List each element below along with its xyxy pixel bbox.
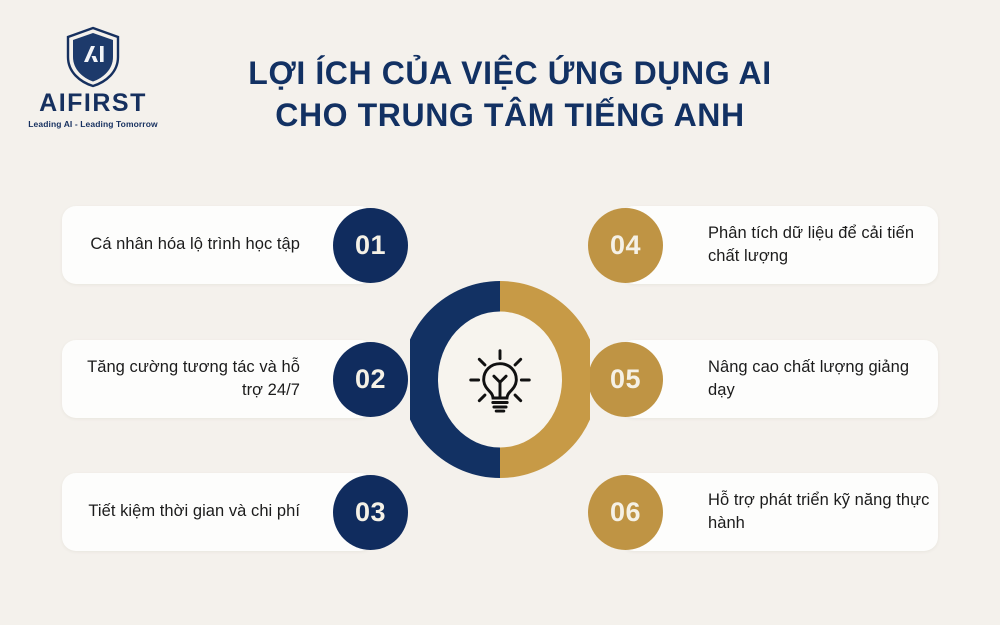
- benefit-text-04: Phân tích dữ liệu để cải tiến chất lượng: [708, 222, 938, 269]
- benefit-number-04: 04: [588, 208, 663, 283]
- benefit-text-02: Tăng cường tương tác và hỗ trợ 24/7: [62, 356, 300, 403]
- benefit-card-05[interactable]: 05 Nâng cao chất lượng giảng dạy: [620, 340, 938, 418]
- title-line-1: LỢI ÍCH CỦA VIỆC ỨNG DỤNG AI: [190, 52, 830, 94]
- lightbulb-icon: [464, 344, 536, 416]
- benefit-card-04[interactable]: 04 Phân tích dữ liệu để cải tiến chất lư…: [620, 206, 938, 284]
- benefit-text-03: Tiết kiệm thời gian và chi phí: [88, 500, 300, 523]
- benefit-text-01: Cá nhân hóa lộ trình học tập: [90, 233, 300, 256]
- shield-ai-icon: [65, 26, 121, 88]
- infographic-poster: AIFIRST Leading AI - Leading Tomorrow LỢ…: [0, 0, 1000, 625]
- logo-tagline: Leading AI - Leading Tomorrow: [18, 120, 168, 129]
- benefit-text-06: Hỗ trợ phát triển kỹ năng thực hành: [708, 489, 938, 536]
- benefit-card-02[interactable]: Tăng cường tương tác và hỗ trợ 24/7 02: [62, 340, 374, 418]
- benefit-number-06: 06: [588, 475, 663, 550]
- benefit-card-01[interactable]: Cá nhân hóa lộ trình học tập 01: [62, 206, 374, 284]
- benefit-number-03: 03: [333, 475, 408, 550]
- logo-wordmark: AIFIRST: [18, 90, 168, 116]
- page-title: LỢI ÍCH CỦA VIỆC ỨNG DỤNG AI CHO TRUNG T…: [190, 52, 830, 136]
- title-line-2: CHO TRUNG TÂM TIẾNG ANH: [190, 94, 830, 136]
- benefit-card-03[interactable]: Tiết kiệm thời gian và chi phí 03: [62, 473, 374, 551]
- benefit-number-01: 01: [333, 208, 408, 283]
- benefit-text-05: Nâng cao chất lượng giảng dạy: [708, 356, 938, 403]
- center-donut: [410, 272, 590, 487]
- benefit-number-05: 05: [588, 342, 663, 417]
- benefit-card-06[interactable]: 06 Hỗ trợ phát triển kỹ năng thực hành: [620, 473, 938, 551]
- benefit-number-02: 02: [333, 342, 408, 417]
- brand-logo: AIFIRST Leading AI - Leading Tomorrow: [18, 26, 168, 130]
